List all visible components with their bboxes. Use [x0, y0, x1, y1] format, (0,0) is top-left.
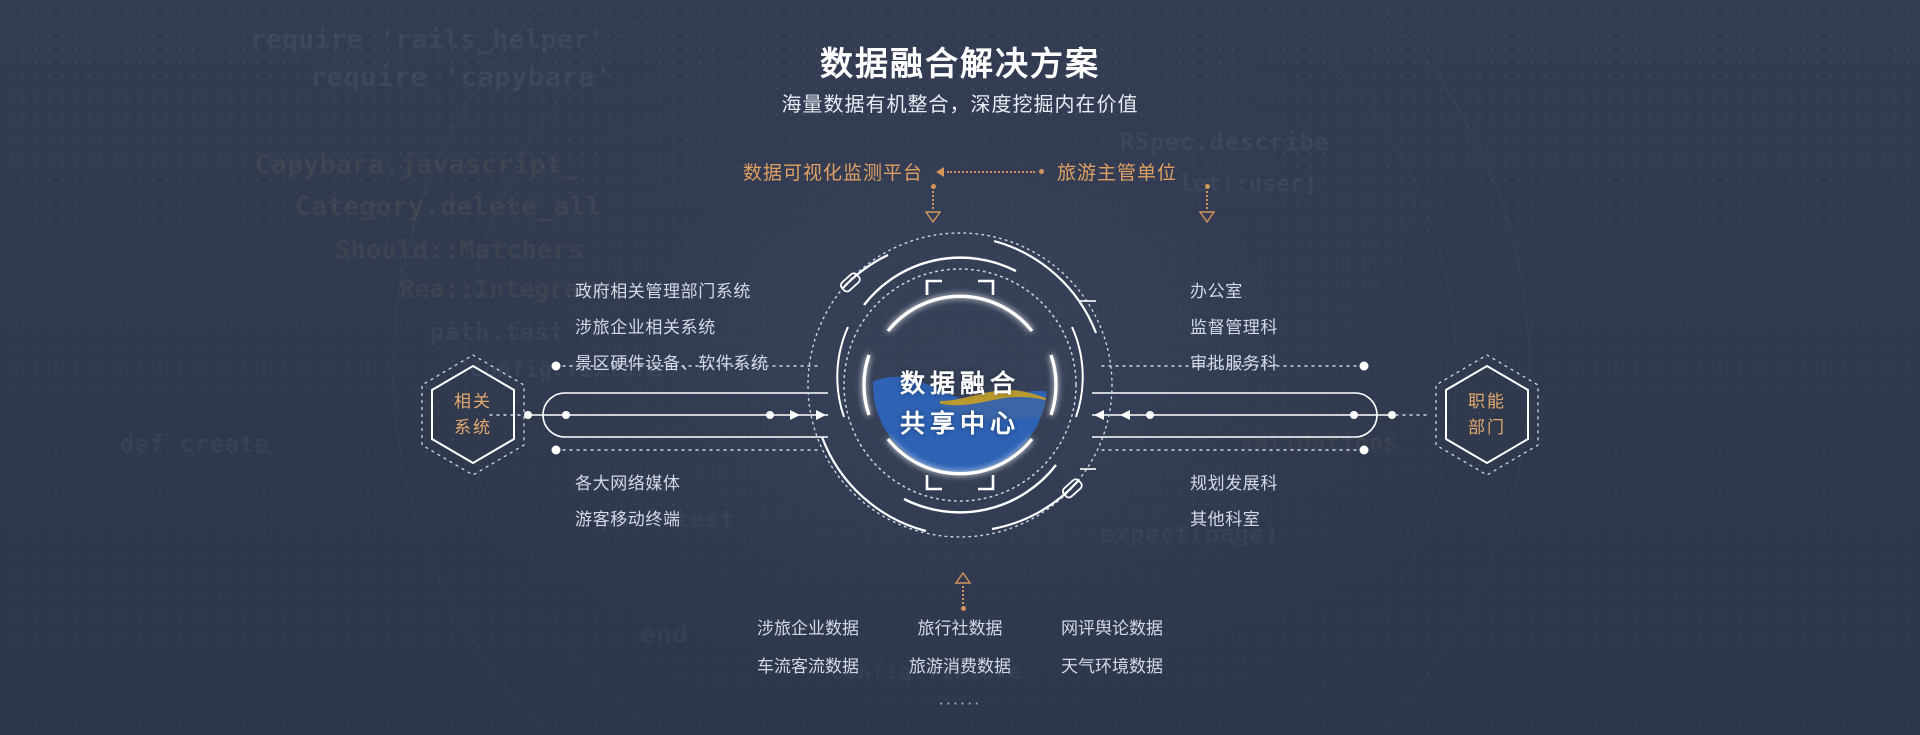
- infographic-canvas: require 'rails_helper' require 'capybara…: [0, 0, 1920, 735]
- data-sphere: [860, 298, 1066, 565]
- data-hub-graphic: .ring { fill:none; stroke:#ffffff; } .ri…: [780, 205, 1140, 565]
- rail-node-dot: [552, 362, 561, 371]
- rail-node-dot: [562, 411, 570, 419]
- rail-node-dot: [1388, 411, 1396, 419]
- rail-node-dot: [552, 446, 561, 455]
- ring-node-chip: [839, 272, 861, 294]
- rail-node-dot: [524, 411, 532, 419]
- sphere-water-lower: [860, 388, 1066, 565]
- rail-node-dot: [1360, 446, 1369, 455]
- rail-node-dot: [766, 411, 774, 419]
- rail-node-dot: [1146, 411, 1154, 419]
- rail-node-dot: [1360, 362, 1369, 371]
- rail-node-dot: [1350, 411, 1358, 419]
